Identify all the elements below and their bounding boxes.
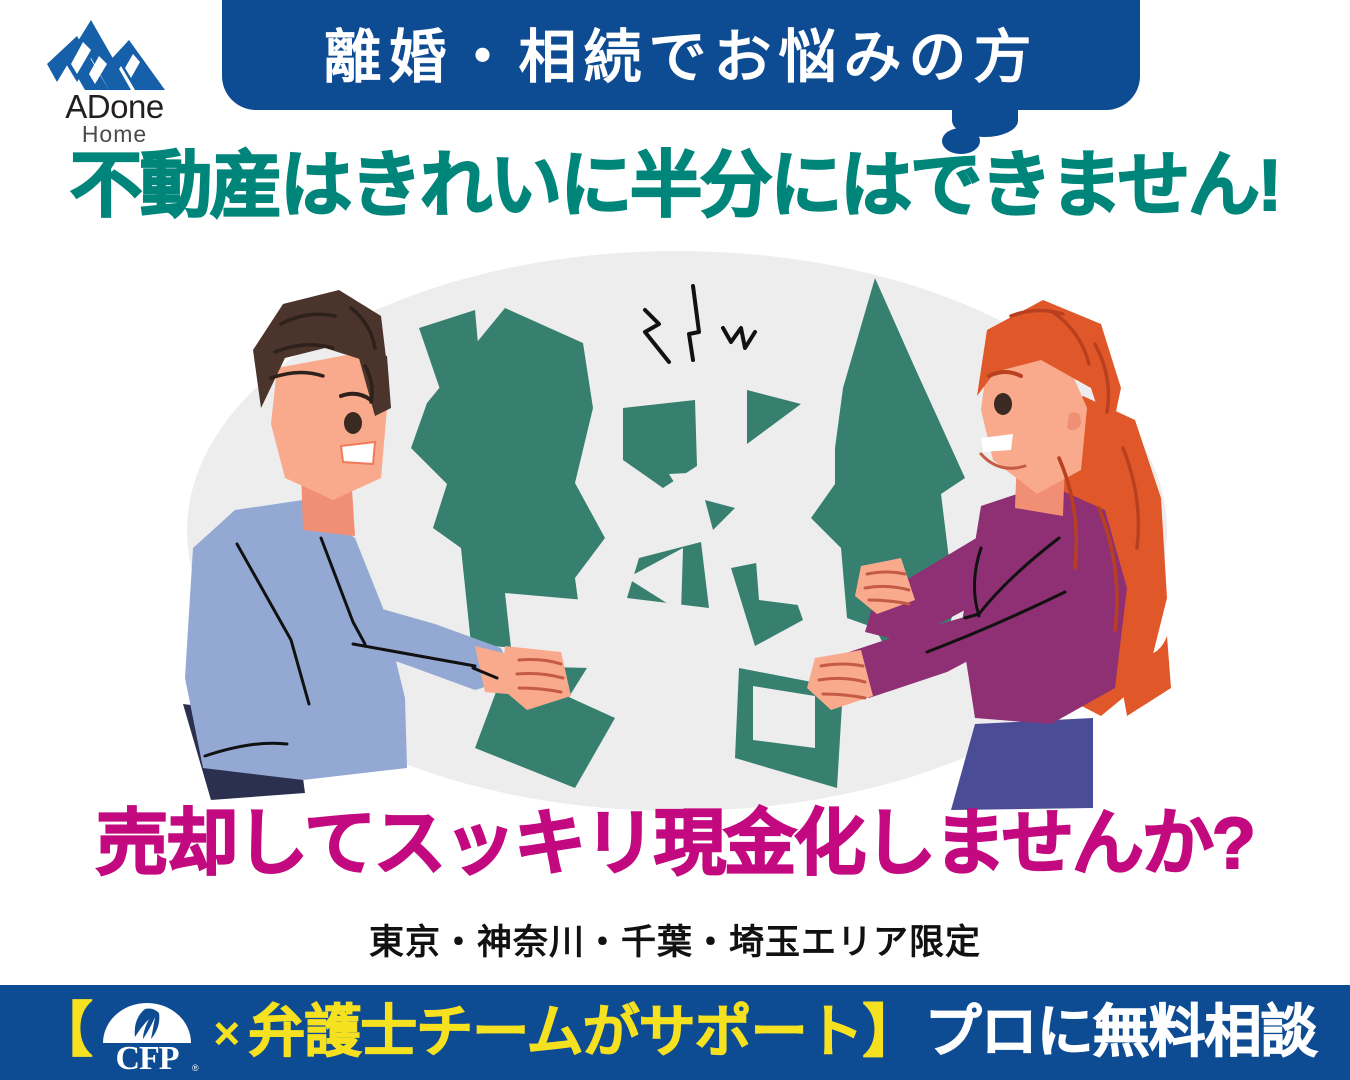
brand-name: ADone bbox=[22, 90, 207, 123]
brand-sub-name: Home bbox=[22, 123, 207, 146]
cross-icon: × bbox=[213, 1010, 240, 1056]
advertisement-banner: ADone Home 離婚・相続でお悩みの方 不動産はきれいに半分にはできません… bbox=[0, 0, 1350, 1080]
area-limitation-note: 東京・神奈川・千葉・埼玉エリア限定 bbox=[0, 914, 1350, 965]
cfp-logo-icon: CFP ® bbox=[93, 997, 201, 1073]
woman-eye bbox=[994, 393, 1012, 415]
bottom-cta-inner: 【 CFP ® × 弁護士チームがサポート】 プロに無料相談 bbox=[33, 995, 1316, 1071]
brand-logo[interactable]: ADone Home bbox=[22, 18, 207, 146]
speech-bubble-text: 離婚・相続でお悩みの方 bbox=[222, 0, 1140, 104]
open-bracket: 【 bbox=[33, 1001, 93, 1061]
bottom-cta-bar[interactable]: 【 CFP ® × 弁護士チームがサポート】 プロに無料相談 bbox=[0, 985, 1350, 1080]
couple-breaking-house-illustration bbox=[175, 248, 1180, 813]
headline-text: 不動産はきれいに半分にはできません! bbox=[0, 148, 1350, 226]
subhead-text: 売却してスッキリ現金化しませんか? bbox=[0, 806, 1350, 884]
support-text: 弁護士チームがサポート】 bbox=[248, 1004, 918, 1061]
free-consultation-text: プロに無料相談 bbox=[925, 1004, 1317, 1061]
svg-text:CFP: CFP bbox=[116, 1040, 179, 1073]
svg-text:®: ® bbox=[192, 1063, 199, 1073]
man-eye bbox=[344, 412, 362, 434]
mountain-logo-icon bbox=[47, 18, 167, 92]
